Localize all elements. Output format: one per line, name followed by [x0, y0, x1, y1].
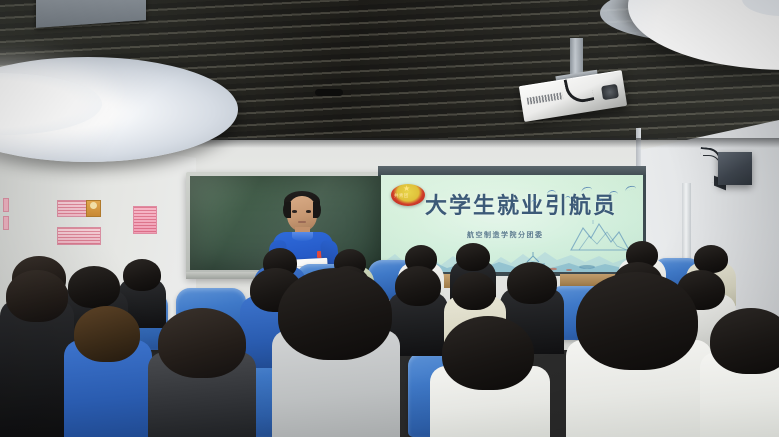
poster-pink-notice [133, 206, 157, 234]
student-row1-right-head [442, 316, 534, 390]
projection-screen-top-housing [378, 166, 646, 175]
poster-strip-lower [3, 216, 9, 230]
student-row2-f-head [452, 272, 496, 310]
wall-speaker [718, 152, 752, 185]
student-row1-midleft [64, 340, 152, 437]
student-row1-midleft-head [74, 306, 140, 362]
student-row1-farright [566, 340, 712, 437]
presenter-eye-right [306, 210, 311, 213]
student-row1-mid [272, 330, 400, 437]
student-row1-mid-head [278, 268, 392, 360]
student-row1-right [430, 366, 550, 437]
student-row1-edge [700, 352, 779, 437]
student-row1-edge-head [710, 308, 779, 374]
poster-strip-upper [3, 198, 9, 212]
student-row2-g-head [507, 262, 557, 304]
student-row1-center-head [158, 308, 246, 378]
student-row3-e-head [456, 243, 490, 271]
ink-wash-mountains [569, 218, 631, 252]
projector-lens [601, 84, 619, 100]
student-row3-g-head [694, 245, 728, 273]
lecture-hall-photograph: ★ 共青团 大学生就业引航员 航空制造学院分团委 [0, 0, 779, 437]
slide-title: 大学生就业引航员 [425, 196, 637, 218]
ceiling-sensor [315, 89, 343, 96]
student-row2-e-head [395, 266, 441, 306]
presenter-eye-left [292, 210, 297, 213]
poster-pink-lower-left [57, 227, 101, 245]
student-row1-farright-head [576, 272, 698, 370]
student-row1-left-head [6, 270, 68, 322]
presenter-mouth [298, 221, 306, 223]
emblem-label: 共青团 [394, 193, 409, 199]
emblem-star-icon: ★ [403, 185, 410, 193]
student-row3-a-head [123, 259, 161, 291]
student-row1-left [0, 300, 74, 437]
student-row2-b-head [68, 266, 120, 308]
poster-text-lines [58, 228, 100, 244]
poster-gold-seal-icon [90, 202, 97, 209]
presenter-collar [292, 232, 313, 241]
poster-text-lines [134, 207, 156, 233]
presenter-hair-left [283, 202, 291, 218]
student-row1-center [148, 352, 256, 437]
presenter-hair-right [313, 202, 321, 218]
